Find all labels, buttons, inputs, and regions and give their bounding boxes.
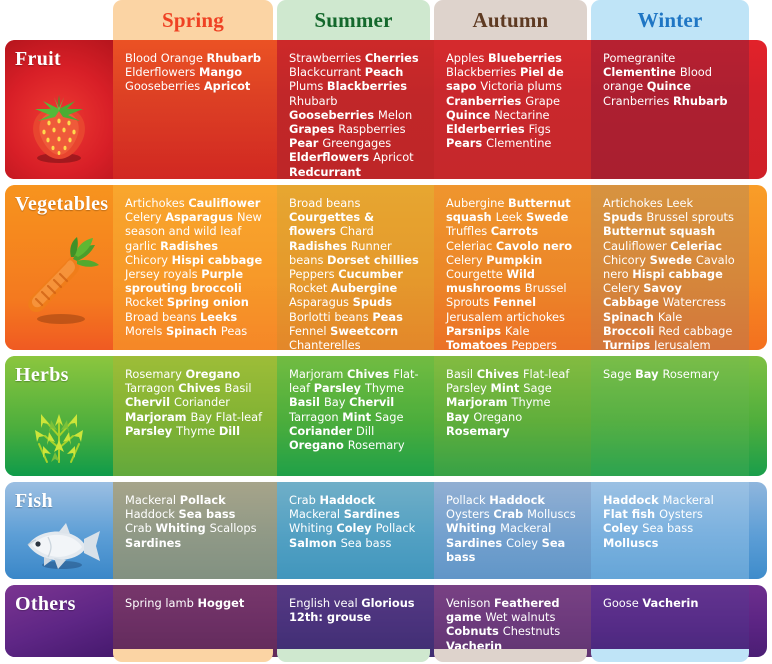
produce-item: Chives — [347, 367, 393, 381]
produce-item: Peas — [221, 324, 247, 338]
produce-item: Sea bass — [178, 507, 235, 521]
produce-item: Chicory — [603, 253, 650, 267]
produce-item: Thyme — [512, 395, 551, 409]
produce-item: Mint — [342, 410, 375, 424]
produce-item: Apricot — [373, 150, 414, 164]
produce-item: Redcurrant — [289, 165, 361, 179]
produce-item: Whiting — [446, 521, 500, 535]
produce-item: Haddock — [603, 493, 663, 507]
row-label-fish: Fish — [5, 482, 113, 579]
cell-herbs-summer: Marjoram Chives Flat-leaf Parsley Thyme … — [277, 356, 430, 476]
produce-item: Rosemary — [348, 438, 405, 452]
cell-others-spring: Spring lamb Hogget — [113, 585, 273, 657]
produce-item: Borlotti beans — [289, 310, 372, 324]
season-header-spring[interactable]: Spring — [113, 0, 273, 40]
produce-item: Dorset chillies — [327, 253, 419, 267]
cell-others-summer: English veal Glorious 12th: grouse — [277, 585, 430, 657]
produce-item: Celery — [446, 253, 486, 267]
cell-herbs-spring: Rosemary Oregano Tarragon Chives Basil C… — [113, 356, 273, 476]
cell-others-winter: Goose Vacherin — [591, 585, 746, 657]
produce-item: Sea bass — [341, 536, 392, 550]
row-title-fruit: Fruit — [15, 48, 61, 71]
produce-item: Pears — [446, 136, 486, 150]
produce-item: Sage — [603, 367, 635, 381]
category-row-others: Others Spring lamb Hogget English veal G… — [0, 585, 772, 657]
produce-item: Leeks — [200, 310, 237, 324]
produce-item: Artichokes — [125, 196, 188, 210]
produce-item: Raspberries — [338, 122, 405, 136]
produce-item: Oregano — [289, 438, 348, 452]
category-row-fish: Fish Mackeral Pollack Haddock Sea bass C… — [0, 482, 772, 579]
produce-item: Blood Orange — [125, 51, 206, 65]
row-label-others: Others — [5, 585, 113, 657]
produce-item: Parsley — [125, 424, 176, 438]
produce-item: Venison — [446, 596, 494, 610]
produce-item: Asparagus — [165, 210, 237, 224]
cell-fish-spring: Mackeral Pollack Haddock Sea bass Crab W… — [113, 482, 273, 579]
cell-vegetables-spring: Artichokes Cauliflower Celery Asparagus … — [113, 185, 273, 350]
season-header-winter[interactable]: Winter — [591, 0, 749, 40]
produce-item: Peppers — [511, 338, 557, 352]
produce-item: Sardines — [344, 507, 400, 521]
season-header-row: Spring Summer Autumn Winter — [0, 0, 772, 40]
produce-item: Bay — [446, 410, 473, 424]
cell-fruit-autumn: Apples Blueberries Blackberries Piel de … — [434, 40, 587, 179]
produce-item: English veal — [289, 596, 361, 610]
produce-item: Cranberries — [446, 94, 525, 108]
row-title-fish: Fish — [15, 490, 53, 513]
produce-item: Peppers — [289, 267, 338, 281]
produce-item: Whiting — [155, 521, 209, 535]
produce-item: Chanterelles — [289, 338, 361, 352]
produce-item: Quince — [446, 108, 494, 122]
produce-item: Molluscs — [603, 536, 658, 550]
produce-item: Chives — [178, 381, 224, 395]
produce-item: Tarragon — [125, 381, 178, 395]
produce-item: Celery — [125, 210, 165, 224]
produce-item: Courgette — [446, 267, 506, 281]
produce-item: Victoria plums — [480, 79, 562, 93]
cell-vegetables-summer: Broad beans Courgettes & flowers Chard R… — [277, 185, 430, 350]
season-header-spring-label: Spring — [162, 8, 224, 33]
produce-item: Melon — [378, 108, 412, 122]
produce-item: Carrots — [491, 224, 538, 238]
strawberry-icon — [5, 74, 113, 175]
produce-item: Broad beans — [289, 196, 360, 210]
produce-item: Cobnuts — [446, 624, 503, 638]
produce-item: Elderflowers — [125, 65, 199, 79]
produce-item: Bay — [324, 395, 349, 409]
produce-item: Swede — [526, 210, 568, 224]
produce-item: Haddock — [319, 493, 375, 507]
produce-item: Cranberries — [603, 94, 673, 108]
produce-item: Oysters — [446, 507, 493, 521]
produce-item: Elderflowers — [289, 150, 373, 164]
produce-item: Elderberries — [446, 122, 529, 136]
produce-item: Pollack — [376, 521, 416, 535]
produce-item: Rosemary — [663, 367, 720, 381]
produce-item: Coley — [336, 521, 375, 535]
produce-item: Sage — [523, 381, 551, 395]
produce-item: Pollack — [180, 493, 226, 507]
produce-item: Marjoram — [125, 410, 191, 424]
row-label-vegetables: Vegetables — [5, 185, 113, 350]
produce-item: Mackeral — [663, 493, 714, 507]
produce-item: Swede — [650, 253, 696, 267]
produce-item: Oysters — [659, 507, 703, 521]
season-header-summer-label: Summer — [314, 8, 392, 33]
seasonal-produce-chart: Spring Summer Autumn Winter Fruit — [0, 0, 772, 664]
produce-item: Pumpkin — [486, 253, 542, 267]
produce-item: Salmon — [289, 536, 341, 550]
cell-fruit-spring: Blood Orange Rhubarb Elderflowers Mango … — [113, 40, 273, 179]
cell-fish-autumn: Pollack Haddock Oysters Crab Molluscs Wh… — [434, 482, 587, 579]
produce-item: Gooseberries — [289, 108, 378, 122]
produce-item: Artichokes — [603, 196, 666, 210]
produce-item: Sage — [375, 410, 403, 424]
produce-item: Cucumber — [338, 267, 403, 281]
produce-item: Mango — [199, 65, 242, 79]
produce-item: Cavolo nero — [496, 239, 572, 253]
cell-fruit-winter: Pomegranite Clementine Blood orange Quin… — [591, 40, 746, 179]
produce-item: Dill — [219, 424, 240, 438]
category-row-fruit: Fruit — [0, 40, 772, 179]
produce-item: Blackberries — [327, 79, 407, 93]
produce-item: Broccoli — [603, 324, 658, 338]
produce-item: Hispi cabbage — [172, 253, 263, 267]
produce-item: Oregano — [473, 410, 522, 424]
produce-item: Jersey royals — [125, 267, 201, 281]
produce-item: Coriander — [289, 424, 356, 438]
produce-item: Figs — [529, 122, 551, 136]
produce-item: Rocket — [289, 281, 331, 295]
produce-item: Greengages — [322, 136, 391, 150]
produce-item: Bay Flat-leaf — [191, 410, 263, 424]
produce-item: Peas — [372, 310, 403, 324]
produce-item: Scallops — [210, 521, 257, 535]
produce-item: Chervil — [349, 395, 394, 409]
produce-item: Brussel sprouts — [646, 210, 734, 224]
produce-item: Tomatoes — [446, 338, 511, 352]
produce-item: Whiting — [289, 521, 336, 535]
produce-item: Kale — [505, 324, 529, 338]
row-label-herbs: Herbs — [5, 356, 113, 476]
produce-item: Bay — [635, 367, 662, 381]
produce-item: Chives — [477, 367, 523, 381]
produce-item: Parsnips — [446, 324, 505, 338]
produce-item: Rhubarb — [289, 94, 337, 108]
produce-item: Rhubarb — [673, 94, 728, 108]
produce-item: Radishes — [289, 239, 351, 253]
produce-item: Leek — [496, 210, 526, 224]
produce-item: Mint — [491, 381, 524, 395]
produce-item: Plums — [289, 79, 327, 93]
produce-item: Marjoram — [446, 395, 512, 409]
fish-icon — [5, 516, 113, 575]
produce-item: Spuds — [603, 210, 646, 224]
season-footer-summer — [277, 649, 430, 662]
produce-item: Basil — [446, 367, 477, 381]
produce-item: Fennel — [493, 295, 536, 309]
produce-item: Celery — [603, 281, 643, 295]
season-header-winter-label: Winter — [638, 8, 703, 33]
produce-item: Wet walnuts — [485, 610, 555, 624]
produce-item: Aubergine — [446, 196, 508, 210]
herbs-icon — [5, 390, 113, 472]
season-footer-winter — [591, 649, 749, 662]
produce-item: Aubergine — [331, 281, 397, 295]
produce-item: Jerusalem artichokes — [446, 310, 565, 324]
produce-item: Celeriac — [446, 239, 496, 253]
produce-item: Mackeral — [289, 507, 344, 521]
produce-item: Coley — [603, 521, 642, 535]
cell-others-autumn: Venison Feathered game Wet walnuts Cobnu… — [434, 585, 587, 657]
cell-herbs-winter: Sage Bay Rosemary — [591, 356, 746, 476]
produce-item: Sardines — [125, 536, 181, 550]
cell-vegetables-autumn: Aubergine Butternut squash Leek Swede Tr… — [434, 185, 587, 350]
produce-item: Cherries — [365, 51, 419, 65]
produce-item: Sardines — [446, 536, 506, 550]
produce-item: Gooseberries — [125, 79, 204, 93]
produce-item: Haddock — [125, 507, 178, 521]
produce-item: Cauliflower — [603, 239, 670, 253]
produce-item: Goose — [603, 596, 642, 610]
produce-item: Truffles — [446, 224, 491, 238]
row-label-fruit: Fruit — [5, 40, 113, 179]
produce-item: Pollack — [446, 493, 489, 507]
season-footer-autumn — [434, 649, 587, 662]
season-header-autumn[interactable]: Autumn — [434, 0, 587, 40]
cell-fish-winter: Haddock Mackeral Flat fish Oysters Coley… — [591, 482, 746, 579]
produce-item: Flat fish — [603, 507, 659, 521]
produce-item: Radishes — [160, 239, 218, 253]
produce-item: Blackberries — [446, 65, 520, 79]
produce-item: Grapes — [289, 122, 338, 136]
season-header-summer[interactable]: Summer — [277, 0, 430, 40]
produce-item: Crab — [493, 507, 527, 521]
produce-item: Rosemary — [125, 367, 185, 381]
produce-item: Chervil — [125, 395, 174, 409]
produce-item: Clementine — [603, 65, 680, 79]
produce-item: Apricot — [204, 79, 251, 93]
season-footer-spring — [113, 649, 273, 662]
produce-item: Crab — [289, 493, 319, 507]
season-header-autumn-label: Autumn — [473, 8, 549, 33]
produce-item: Basil — [289, 395, 324, 409]
produce-item: Rhubarb — [206, 51, 261, 65]
produce-item: Watercress — [663, 295, 726, 309]
produce-item: Peach — [365, 65, 404, 79]
produce-item: Blueberries — [488, 51, 562, 65]
produce-item: Coriander — [174, 395, 230, 409]
produce-item: Broad beans — [125, 310, 200, 324]
produce-item: Apples — [446, 51, 488, 65]
produce-item: Quince — [647, 79, 691, 93]
produce-item: Thyme — [365, 381, 404, 395]
produce-item: Spring onion — [167, 295, 249, 309]
produce-item: Crab — [125, 521, 155, 535]
produce-item: Grape — [525, 94, 560, 108]
produce-item: Mackeral — [500, 521, 551, 535]
produce-item: Molluscs — [527, 507, 575, 521]
row-title-others: Others — [15, 593, 76, 616]
row-title-herbs: Herbs — [15, 364, 69, 387]
produce-item: Hogget — [197, 596, 244, 610]
produce-item: Clementine — [486, 136, 551, 150]
produce-item: Dill — [356, 424, 374, 438]
produce-item: Rocket — [125, 295, 167, 309]
produce-item: Red cabbage — [658, 324, 732, 338]
produce-item: Haddock — [489, 493, 545, 507]
produce-item: Pomegranite — [603, 51, 675, 65]
produce-item: Spuds — [353, 295, 392, 309]
produce-item: Pear — [289, 136, 322, 150]
produce-item: Spinach — [603, 310, 658, 324]
cell-fruit-summer: Strawberries Cherries Blackcurrant Peach… — [277, 40, 430, 179]
produce-item: Spring lamb — [125, 596, 197, 610]
produce-item: Strawberries — [289, 51, 365, 65]
cell-vegetables-winter: Artichokes Leek Spuds Brussel sprouts Bu… — [591, 185, 746, 350]
produce-item: Mackeral — [125, 493, 180, 507]
produce-item: Chicory — [125, 253, 172, 267]
produce-item: Chard — [340, 224, 374, 238]
produce-item: Celeriac — [670, 239, 722, 253]
produce-item: Hispi cabbage — [632, 267, 723, 281]
produce-item: Chestnuts — [503, 624, 560, 638]
produce-item: Basil — [225, 381, 252, 395]
produce-item: Turnips — [603, 338, 654, 352]
produce-item: Butternut squash — [603, 224, 715, 238]
produce-item: Rosemary — [446, 424, 510, 438]
produce-item: Kale — [658, 310, 682, 324]
category-row-herbs: Herbs — [0, 356, 772, 476]
produce-item: Sweetcorn — [330, 324, 398, 338]
produce-item: Nectarine — [494, 108, 549, 122]
produce-item: Asparagus — [289, 295, 353, 309]
produce-item: Sea bass — [642, 521, 693, 535]
produce-item: Leek — [666, 196, 693, 210]
produce-item: Cauliflower — [188, 196, 260, 210]
produce-item: Thyme — [176, 424, 219, 438]
produce-item: Blackcurrant — [289, 65, 365, 79]
cell-fish-summer: Crab Haddock Mackeral Sardines Whiting C… — [277, 482, 430, 579]
produce-item: Fennel — [289, 324, 330, 338]
produce-item: Tarragon — [289, 410, 342, 424]
produce-item: Spinach — [166, 324, 221, 338]
row-title-vegetables: Vegetables — [15, 193, 108, 216]
produce-item: Vacherin — [642, 596, 698, 610]
produce-item: Parsley — [314, 381, 365, 395]
produce-item: Morels — [125, 324, 166, 338]
cell-herbs-autumn: Basil Chives Flat-leaf Parsley Mint Sage… — [434, 356, 587, 476]
produce-item: Marjoram — [289, 367, 347, 381]
carrot-icon — [5, 219, 113, 346]
category-row-vegetables: Vegetables Artichokes Cauliflower — [0, 185, 772, 350]
produce-item: Coley — [506, 536, 541, 550]
produce-item: Oregano — [185, 367, 240, 381]
